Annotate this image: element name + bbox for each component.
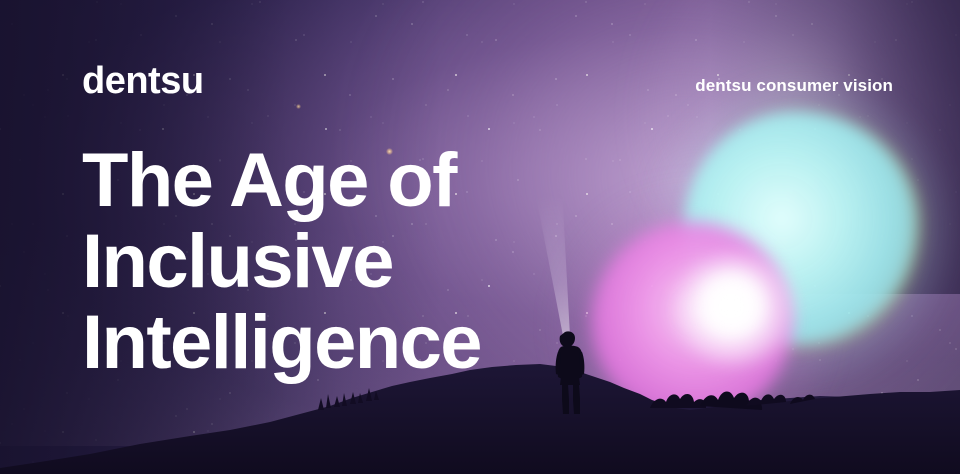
orb-overlap-core <box>694 272 768 338</box>
page-title: The Age of Inclusive Intelligence <box>82 140 481 383</box>
headline-line-1: The Age of <box>82 140 481 221</box>
consumer-vision-tagline: dentsu consumer vision <box>695 76 893 96</box>
headline-line-3: Intelligence <box>82 302 481 383</box>
headline-line-2: Inclusive <box>82 221 481 302</box>
hero-banner: dentsu dentsu consumer vision The Age of… <box>0 0 960 474</box>
person-silhouette <box>548 330 594 416</box>
dentsu-logo[interactable]: dentsu <box>82 62 204 100</box>
